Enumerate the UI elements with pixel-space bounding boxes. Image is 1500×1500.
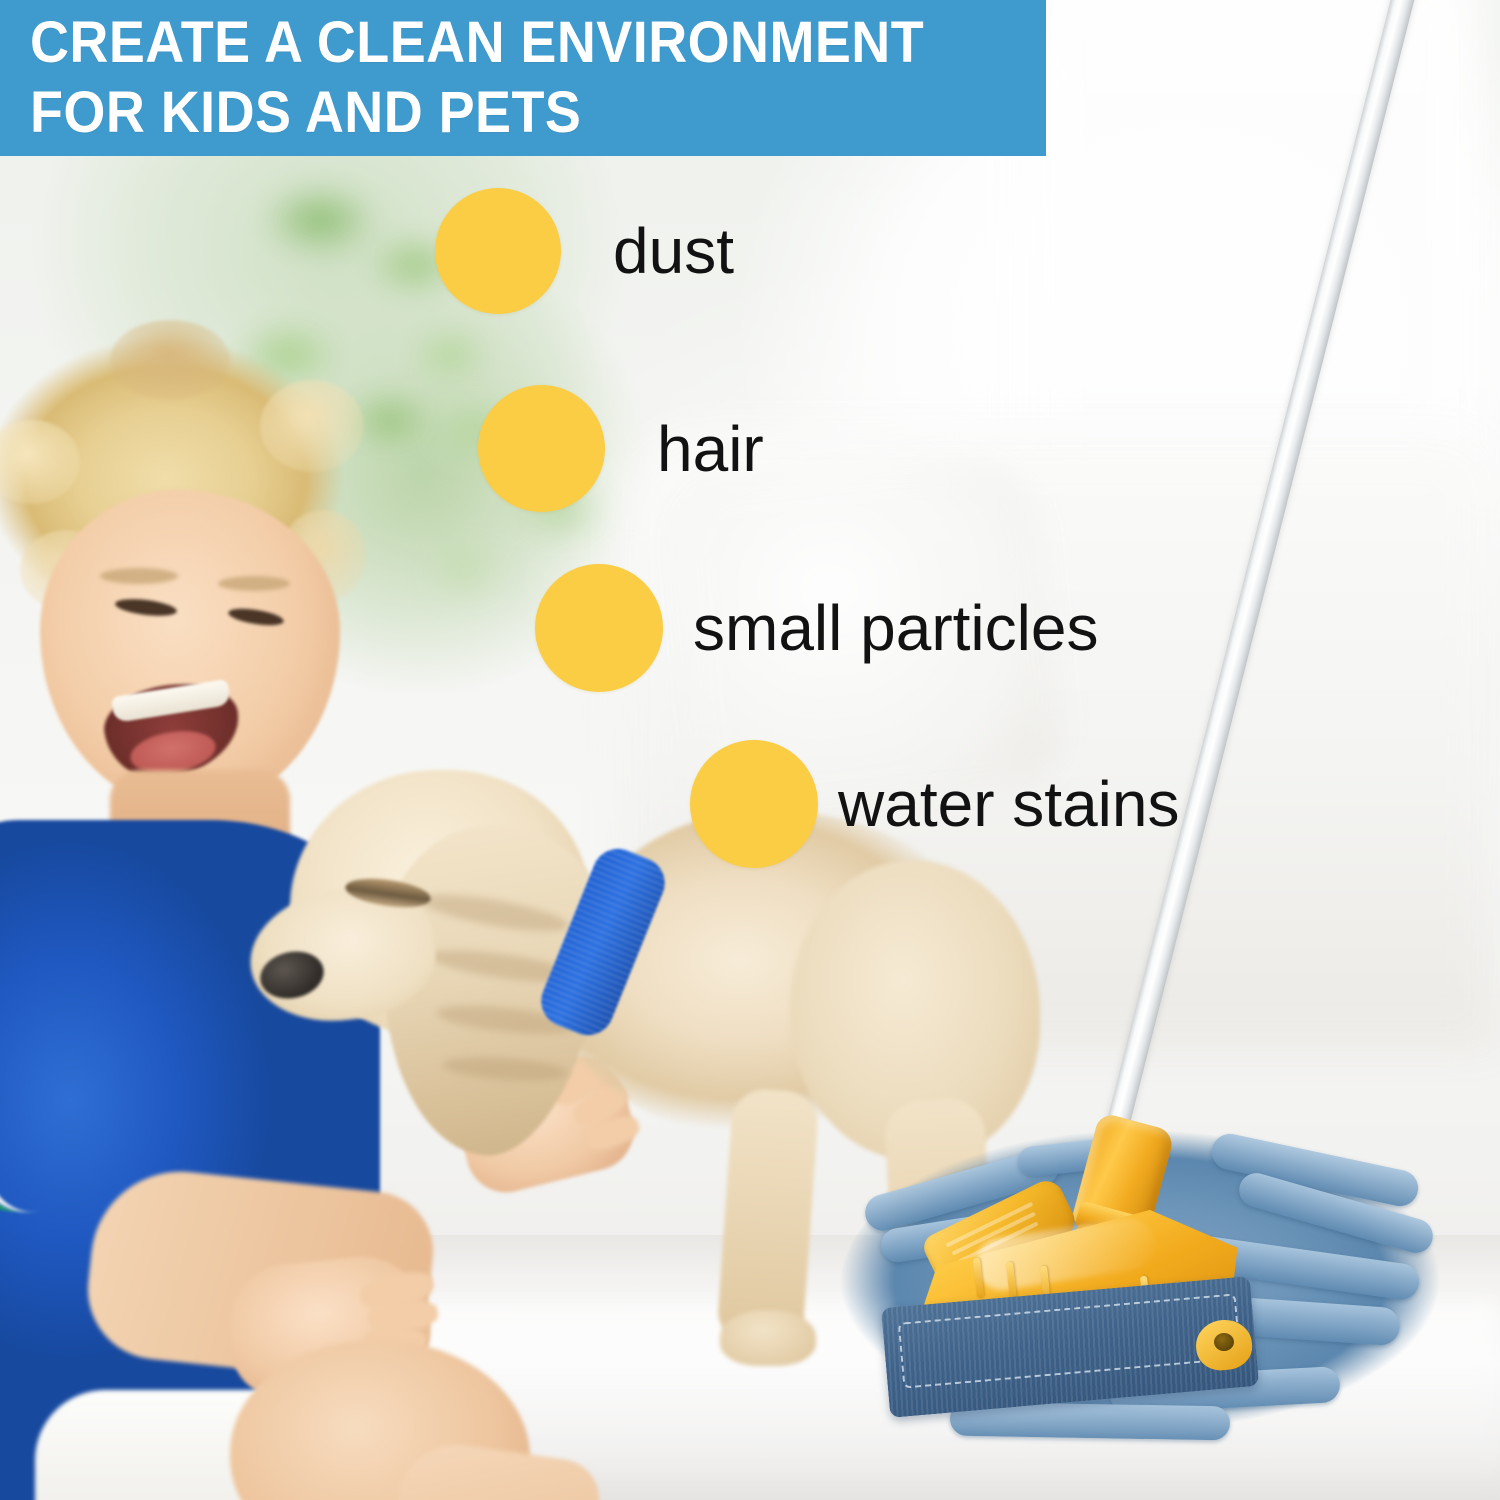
bullet-hair: hair: [478, 385, 764, 512]
bullet-water-stains: water stains: [690, 740, 1179, 868]
bullet-label: water stains: [838, 767, 1179, 841]
bullet-small-particles: small particles: [535, 564, 1098, 692]
bullet-label: dust: [613, 214, 734, 288]
mop-handle-pole: [1102, 0, 1419, 1146]
headline-text: CREATE A CLEAN ENVIRONMENT FOR KIDS AND …: [30, 8, 960, 148]
bullet-dot-icon: [478, 385, 605, 512]
product-marketing-image: CREATE A CLEAN ENVIRONMENT FOR KIDS AND …: [0, 0, 1500, 1500]
bullet-dot-icon: [690, 740, 818, 868]
bullet-dust: dust: [435, 188, 734, 314]
mop-clamp-pivot-hole: [1214, 1333, 1234, 1351]
bullet-label: small particles: [693, 591, 1098, 665]
bullet-dot-icon: [535, 564, 663, 692]
bullet-label: hair: [657, 412, 764, 486]
bullet-dot-icon: [435, 188, 561, 314]
headline-banner: CREATE A CLEAN ENVIRONMENT FOR KIDS AND …: [0, 0, 1046, 156]
